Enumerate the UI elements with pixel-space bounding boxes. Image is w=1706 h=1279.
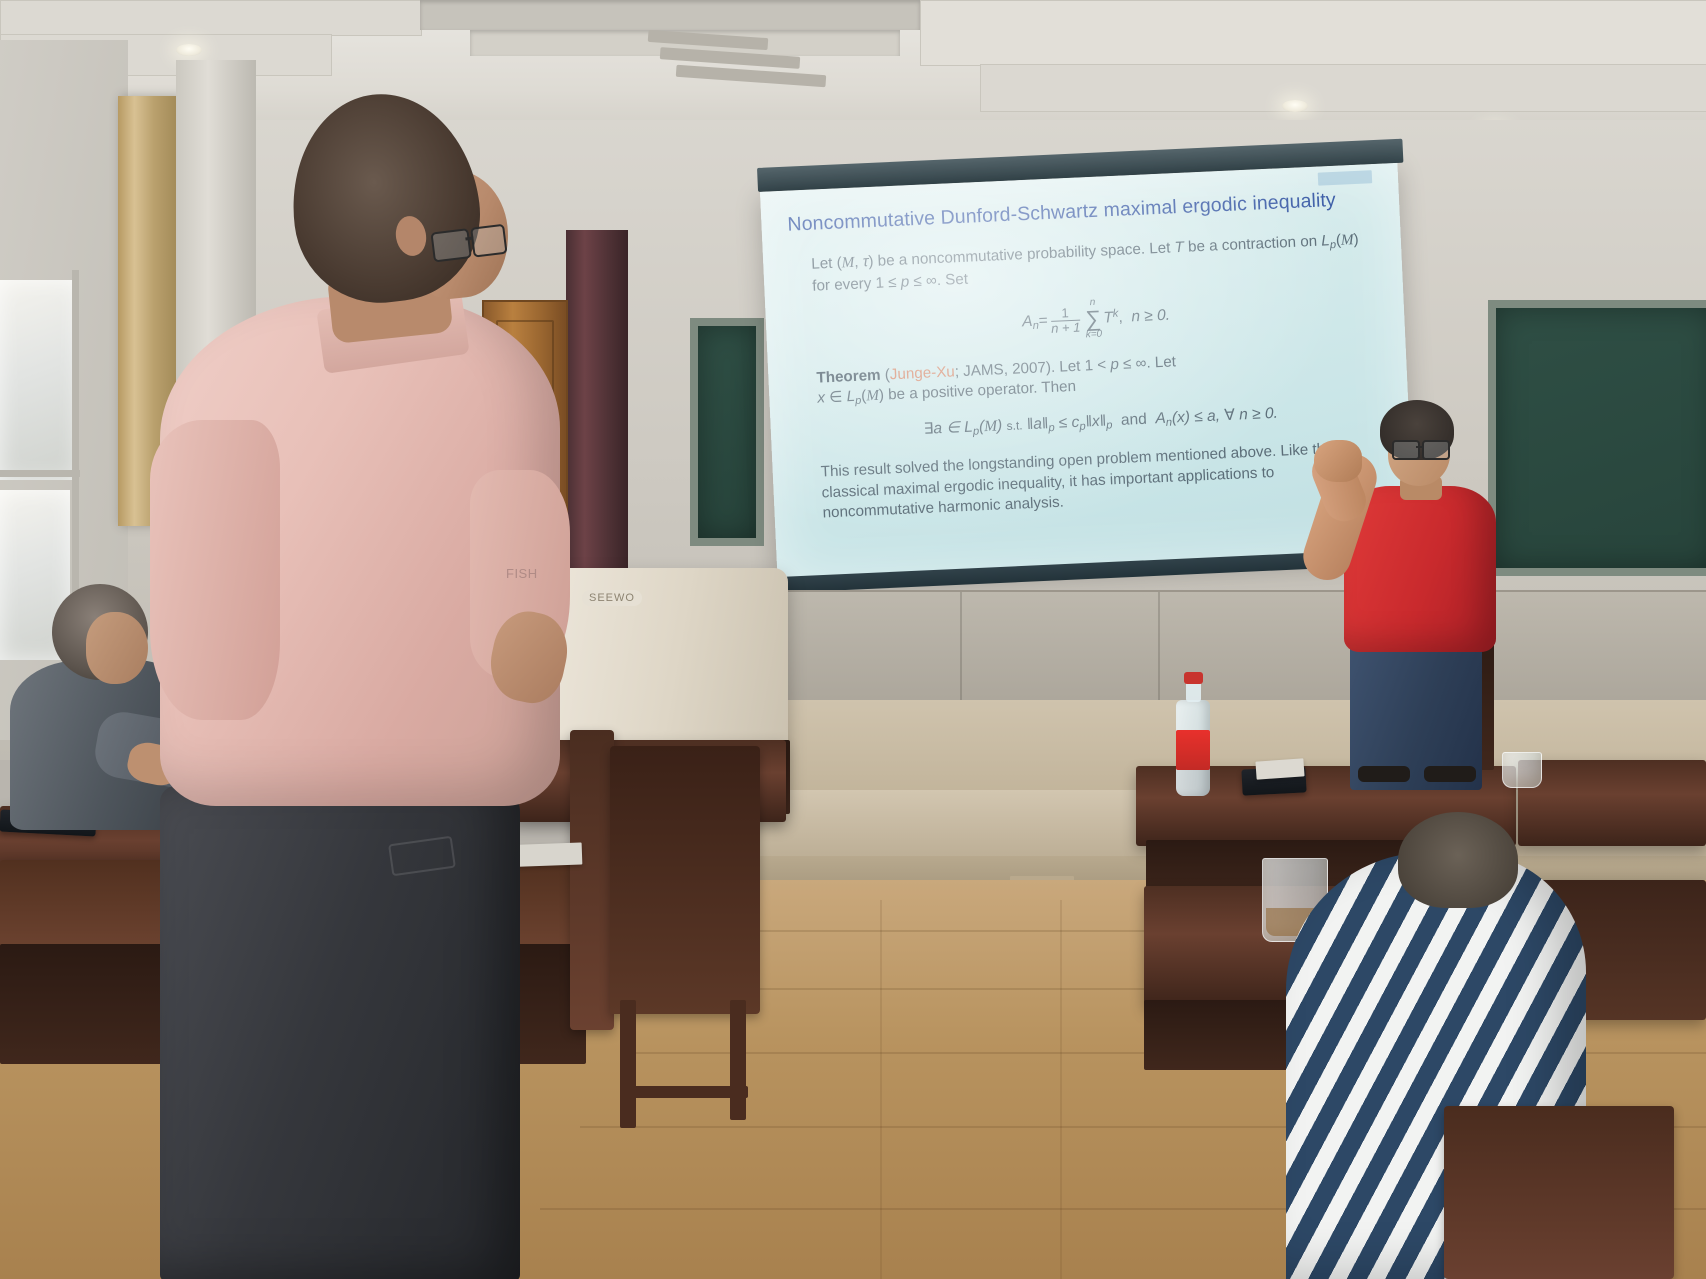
speaker-shoe-left [1358, 766, 1410, 782]
sum-lower-limit: k=0 [1086, 330, 1103, 341]
plastic-cup-far [1502, 752, 1542, 788]
ceiling-downlight [1282, 100, 1308, 112]
water-bottle-label [1176, 730, 1210, 770]
foreground-attendee-sleeve [150, 420, 280, 720]
eq-equals: = [1038, 312, 1048, 329]
seated-attendee-face [86, 612, 148, 684]
text-run: ; JAMS, 2007). Let 1 < [954, 356, 1110, 380]
eq-numerator: 1 [1050, 306, 1080, 321]
ceiling-panel [920, 0, 1706, 66]
math-cal-m: M [984, 418, 998, 436]
speaker-shoe-right [1424, 766, 1476, 782]
math-cal-m: M [1341, 231, 1354, 249]
eq-denominator: n + 1 [1051, 320, 1081, 335]
blackboard-left [690, 318, 764, 546]
floor-plank-seam [1060, 900, 1062, 1279]
speaker-glasses-icon [1392, 440, 1448, 458]
eq-fraction: 1n + 1 [1050, 306, 1081, 336]
eq-such-that: s.t. [1006, 418, 1023, 433]
eq-condition: n ≥ 0. [1131, 307, 1170, 326]
text-run: ≤ ∞. Let [1118, 353, 1176, 373]
glasses-lens-right [470, 224, 507, 258]
chair-leg [620, 1000, 636, 1128]
ceiling-panel [980, 64, 1706, 112]
ceiling-downlight [176, 44, 202, 56]
eq-leq: ≤ [1190, 408, 1208, 426]
podium-brand-label: SEEWO [582, 590, 642, 606]
glasses-lens-left [430, 228, 471, 262]
eq-L: L [964, 419, 973, 436]
eq-forall: ∀ [1220, 407, 1240, 425]
eq-argument: (x) [1172, 409, 1191, 427]
text-run: ≤ ∞. Set [909, 270, 969, 290]
paper-on-desk [1255, 758, 1304, 779]
blackboard-right [1488, 300, 1706, 576]
math-L: L [1321, 232, 1330, 249]
window [0, 280, 78, 480]
math-cal-m: M [841, 254, 854, 272]
ceiling-panel [0, 0, 422, 36]
eq-geq-zero: ≥ 0. [1247, 405, 1278, 423]
equation-averages: An=1n + 1n∑k=0Tk, n ≥ 0. [813, 285, 1378, 353]
striped-shirt-attendee-head [1398, 812, 1518, 908]
chair-leg [730, 1000, 746, 1120]
text-run: be a contraction on [1183, 233, 1321, 256]
eq-member: ∈ [942, 419, 965, 437]
eq-comma: , [1118, 309, 1123, 326]
glasses-lens-right [1422, 440, 1450, 460]
sum-symbol: ∑ [1085, 308, 1102, 331]
water-bottle-cap [1184, 672, 1203, 684]
slide-title: Noncommutative Dunford-Schwartz maximal … [787, 187, 1348, 237]
ceiling-vent [420, 0, 920, 30]
floor-plank-seam [880, 900, 882, 1279]
stage-curtain [566, 230, 628, 590]
slide-paragraph-2: This result solved the longstanding open… [820, 437, 1386, 524]
chair-back-left [570, 730, 614, 1030]
window-frame [0, 470, 80, 477]
eq-A: A [1155, 410, 1166, 427]
chair-back-panel [610, 746, 760, 1014]
lecture-hall-photo: Noncommutative Dunford-Schwartz maximal … [0, 0, 1706, 1279]
text-run: ∈ [825, 389, 847, 407]
math-cal-m: M [866, 387, 879, 405]
eq-leq: ≤ [1054, 414, 1072, 432]
desk-right-far [1518, 760, 1706, 846]
text-run: ) be a noncommutative probability space.… [868, 239, 1175, 270]
eq-norm-a: ‖a‖ [1026, 415, 1048, 433]
foreground-attendee-trousers [160, 786, 520, 1279]
shirt-brand-label: FISH [506, 566, 548, 582]
math-L: L [846, 388, 855, 405]
glasses-bridge [1416, 446, 1423, 448]
glasses-lens-left [1392, 440, 1420, 460]
text-run: ) [997, 417, 1003, 434]
eq-norm-x: ‖x‖ [1085, 413, 1106, 431]
eq-summation: n∑k=0 [1084, 298, 1102, 341]
slide-body: Let (M, τ) be a noncommutative probabili… [789, 229, 1387, 525]
slide-theorem: Theorem (Junge-Xu; JAMS, 2007). Let 1 < … [816, 343, 1381, 411]
text-run: Let ( [811, 254, 842, 272]
eq-and: and [1121, 411, 1148, 429]
slide-paragraph-1: Let (M, τ) be a noncommutative probabili… [811, 229, 1376, 297]
eq-norm-x-sub: p [1106, 419, 1113, 431]
theorem-citation: Junge-Xu [889, 363, 955, 383]
chair-stretcher [620, 1086, 748, 1098]
speaker-raised-hand [1314, 440, 1362, 482]
theorem-label: Theorem [816, 367, 881, 387]
chair-foreground-right [1444, 1106, 1674, 1279]
